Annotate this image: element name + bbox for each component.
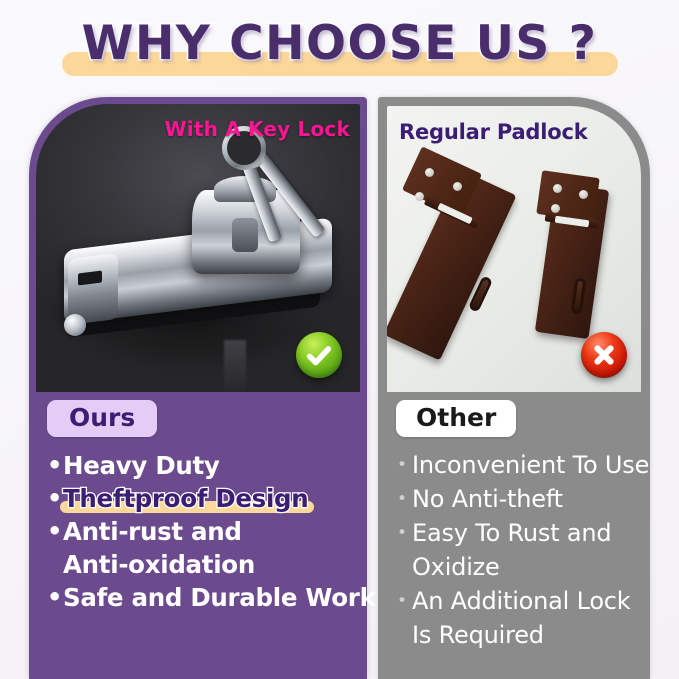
screw-hole [551,204,560,213]
tag-ours: Ours [47,400,157,437]
lock-keyway [232,218,258,252]
panel-ours: With A Key Lock Ours Heavy Duty Theftpro… [29,97,367,679]
list-item-label: Oxidize [412,553,500,581]
list-item: Inconvenient To Use [396,448,642,482]
list-item-continuation: Oxidize [396,550,642,584]
photo-label-ours: With A Key Lock [165,117,350,141]
list-item: Heavy Duty [47,450,359,481]
lock-reflection [224,340,246,392]
list-item-continuation: Anti-oxidation [47,549,359,580]
list-item: An Additional Lock [396,584,642,618]
list-item: No Anti-theft [396,482,642,516]
list-item-continuation: Is Required [396,618,642,652]
product-photo-ours: With A Key Lock [36,104,360,392]
highlighted-feature: Theftproof Design [63,483,308,514]
list-item-label: Inconvenient To Use [412,451,649,479]
list-item-label: Safe and Durable Work [63,583,376,612]
page-title: WHY CHOOSE US ? [0,16,679,71]
list-item-label: Anti-oxidation [63,550,255,579]
list-item-label: Anti-rust and [63,517,242,546]
list-item-label: Easy To Rust and [412,519,611,547]
panel-other: Regular Padlock Other Inconvenient To Us… [378,97,650,679]
product-photo-other: Regular Padlock [387,106,641,392]
feature-list-other: Other Inconvenient To Use No Anti-theft … [378,400,650,652]
list-item-label: Is Required [412,621,544,649]
list-item-label: No Anti-theft [412,485,563,513]
screw-hole [425,168,434,177]
screw-hole [415,192,424,201]
infographic-page: WHY CHOOSE US ? With A Key Lock [0,0,679,679]
list-item-label: Theftproof Design [63,484,308,513]
screw-hole [453,182,462,191]
list-item: Safe and Durable Work [47,582,359,613]
hasp-pivot-pin [64,314,86,336]
screw-hole [553,184,562,193]
tag-other: Other [396,400,516,437]
green-check-icon [296,332,342,378]
red-cross-icon [581,332,627,378]
bullets-other: Inconvenient To Use No Anti-theft Easy T… [396,448,642,652]
photo-label-other: Regular Padlock [399,120,588,144]
page-title-area: WHY CHOOSE US ? [0,0,679,90]
list-item-label: Heavy Duty [63,451,220,480]
list-item: Easy To Rust and [396,516,642,550]
screw-hole [579,190,588,199]
feature-list-ours: Ours Heavy Duty Theftproof Design Anti-r… [29,400,367,615]
list-item: Anti-rust and [47,516,359,547]
list-item: Theftproof Design [47,483,359,514]
list-item-label: An Additional Lock [412,587,631,615]
bullets-ours: Heavy Duty Theftproof Design Anti-rust a… [47,450,359,613]
